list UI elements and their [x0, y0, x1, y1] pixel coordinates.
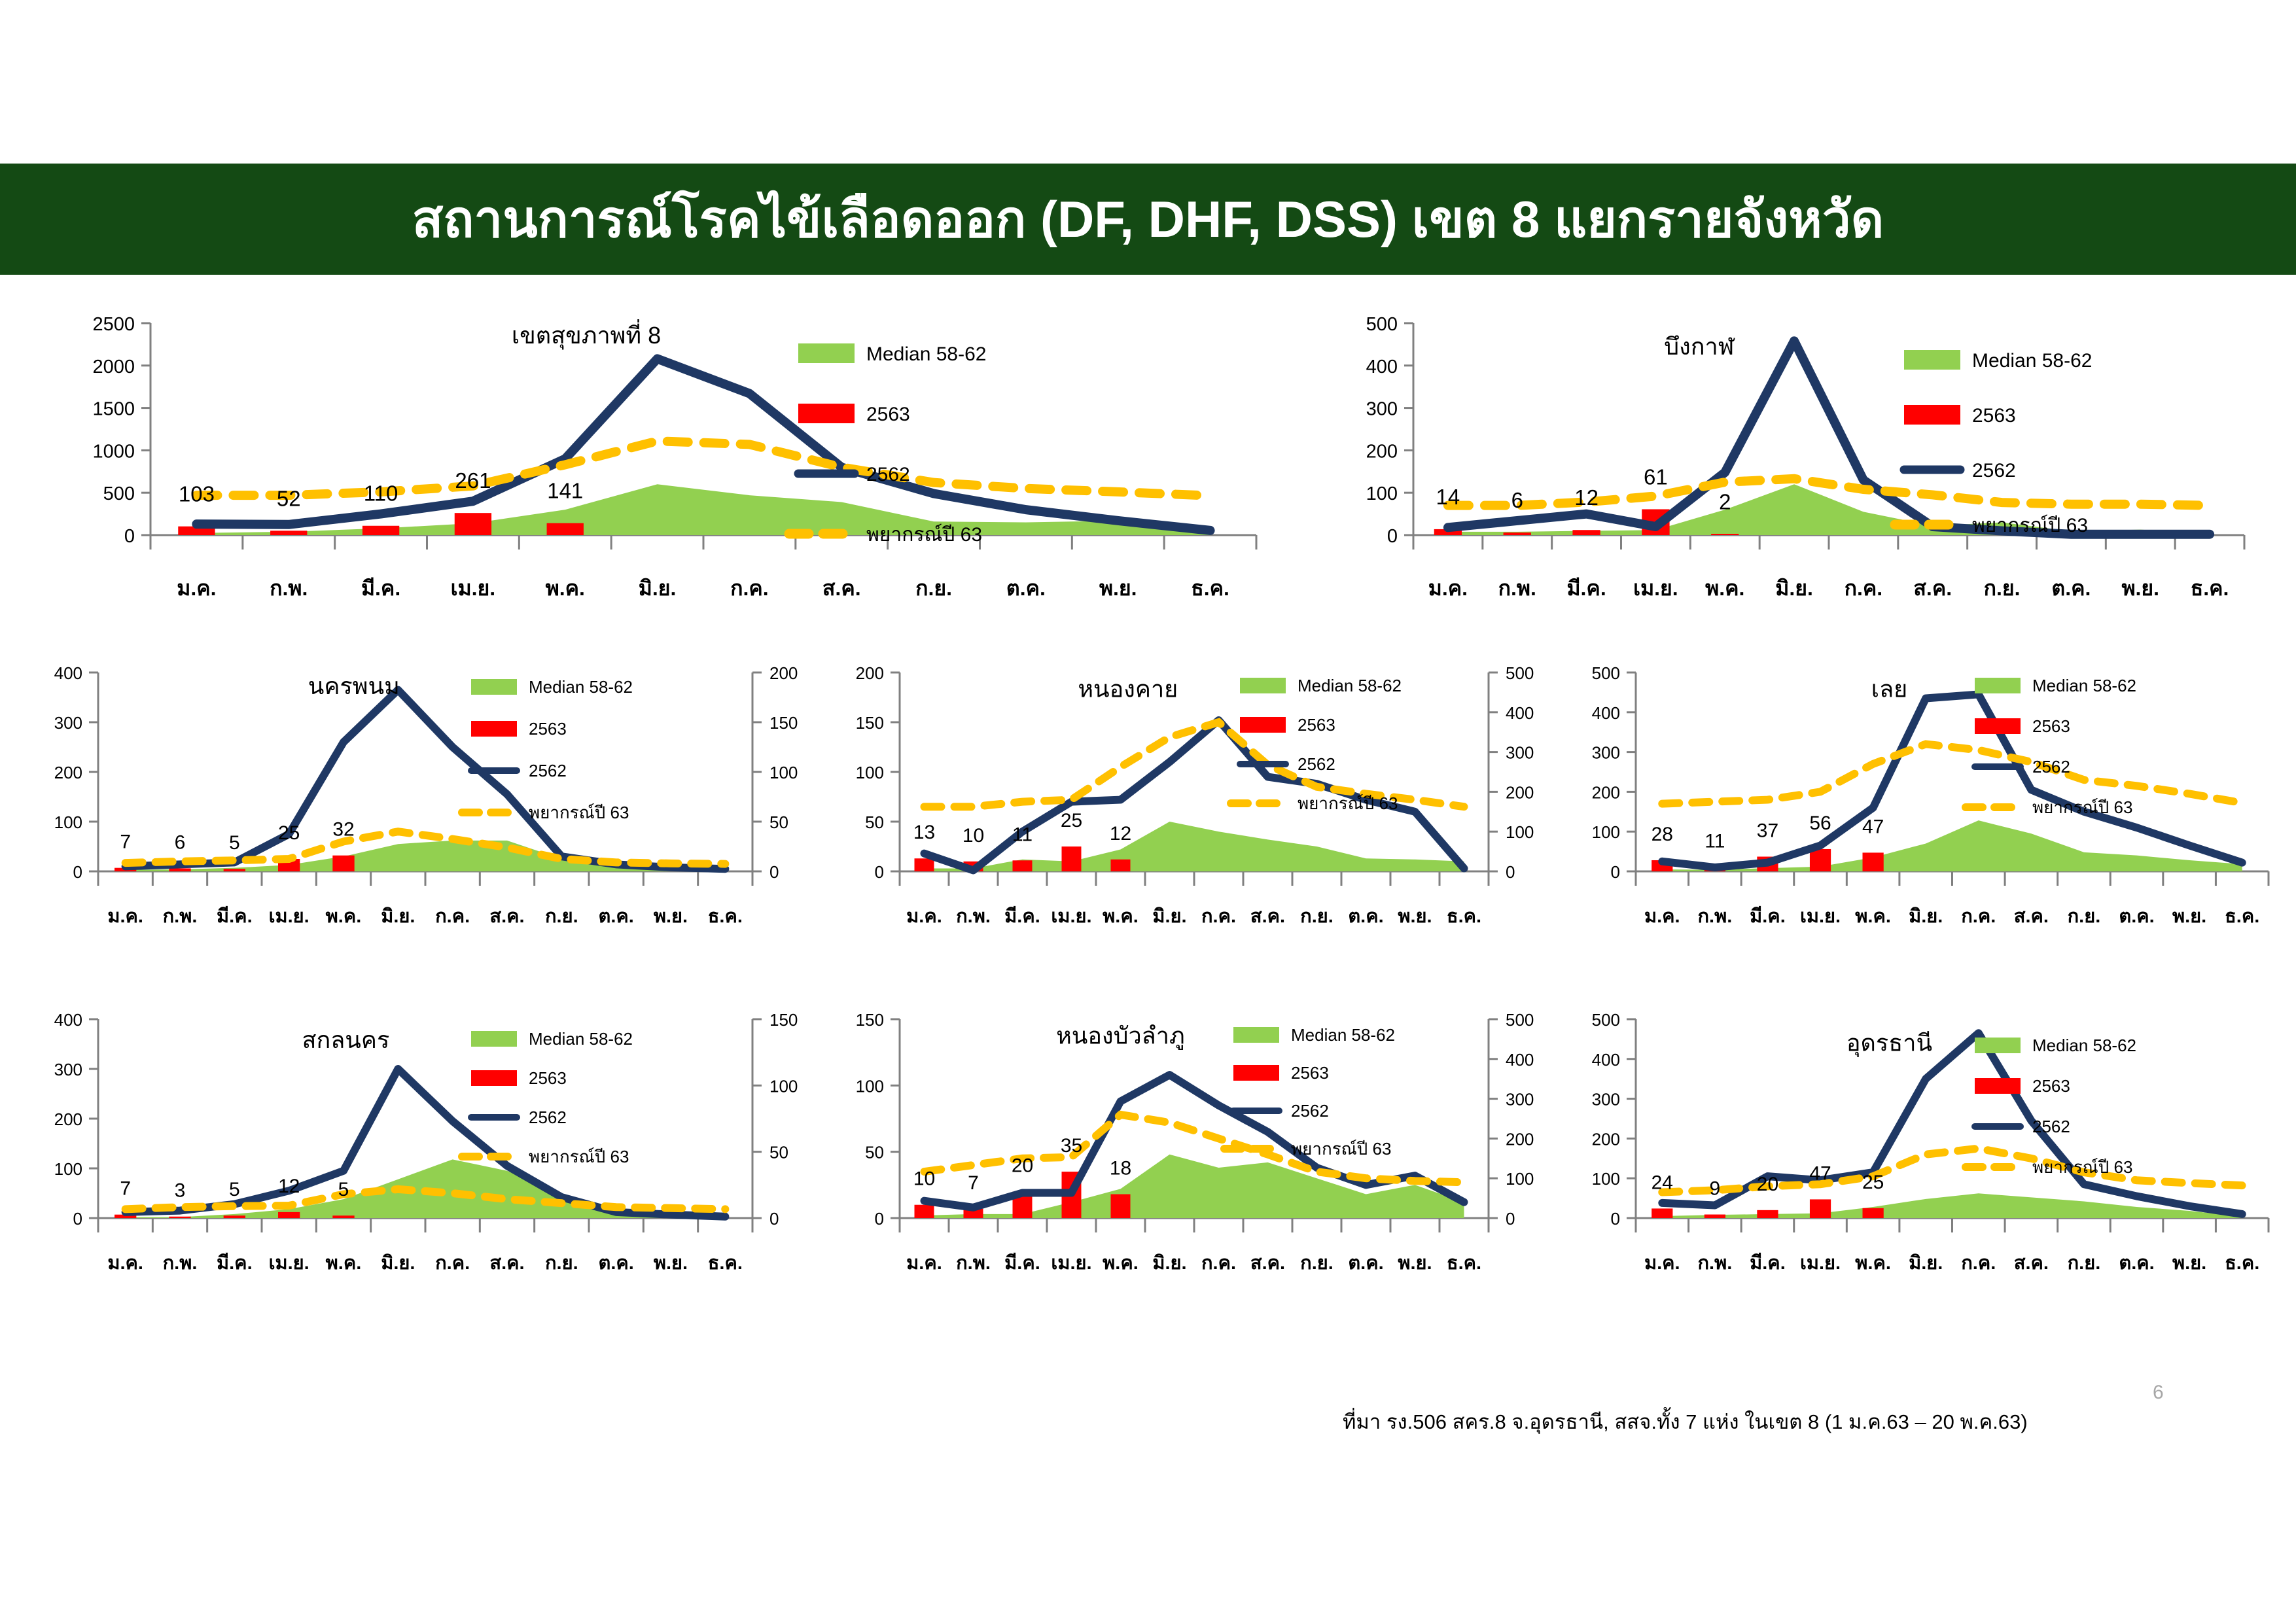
- y-tick-label: 0: [73, 1209, 82, 1229]
- x-tick-label: ส.ค.: [2014, 1253, 2049, 1274]
- x-tick-label: ก.ค.: [435, 1253, 470, 1274]
- bar-2563: [332, 1215, 354, 1218]
- bar-2563: [1651, 1208, 1672, 1218]
- x-tick-label: ม.ค.: [107, 906, 143, 927]
- bar-value-label: 103: [179, 482, 215, 506]
- legend-label-forecast: พยากรณ์ปี 63: [1298, 794, 1398, 813]
- legend-label-median: Median 58-62: [529, 677, 633, 697]
- x-tick-label: ธ.ค.: [1447, 1253, 1481, 1274]
- chart-legend: Median 58-6225632562พยากรณ์ปี 63: [462, 677, 633, 822]
- x-tick-label: ส.ค.: [822, 576, 861, 600]
- y2-tick-label: 0: [769, 862, 779, 882]
- bar-2563: [1504, 532, 1531, 535]
- bar-2563: [1111, 860, 1131, 871]
- x-tick-label: พ.ค.: [1705, 576, 1744, 600]
- x-tick-label: ธ.ค.: [708, 906, 743, 927]
- bar-value-label: 47: [1862, 816, 1884, 837]
- chart-region8: 05001000150020002500ม.ค.ก.พ.มี.ค.เม.ย.พ.…: [39, 301, 1282, 615]
- y-tick-label: 100: [1366, 483, 1398, 504]
- y-tick-label: 300: [1592, 743, 1620, 763]
- chart-buengkan: 0100200300400500ม.ค.ก.พ.มี.ค.เม.ย.พ.ค.มิ…: [1302, 301, 2270, 615]
- y-tick-label: 0: [124, 526, 135, 547]
- x-tick-label: ธ.ค.: [1191, 576, 1229, 600]
- median-area: [925, 1155, 1464, 1218]
- y-tick-label: 100: [1592, 1169, 1620, 1189]
- bar-value-label: 35: [1061, 1135, 1082, 1157]
- bar-2563: [278, 1212, 300, 1218]
- bar-2563: [169, 1217, 190, 1218]
- chart-nongkhai: 0501001502000100200300400500ม.ค.ก.พ.มี.ค…: [815, 654, 1561, 942]
- bar-2563: [270, 531, 307, 535]
- bar-value-label: 24: [1651, 1172, 1673, 1193]
- bar-value-label: 37: [1757, 820, 1778, 842]
- bar-value-label: 20: [1757, 1174, 1778, 1195]
- y2-tick-label: 0: [1506, 1209, 1515, 1229]
- y-tick-label: 150: [856, 713, 884, 733]
- x-tick-label: ส.ค.: [489, 1253, 524, 1274]
- bar-value-label: 6: [175, 831, 186, 853]
- x-tick-label: ก.พ.: [1697, 906, 1732, 927]
- title-banner: สถานการณ์โรคไข้เลือดออก (DF, DHF, DSS) เ…: [0, 164, 2296, 275]
- x-tick-label: มิ.ย.: [1152, 1253, 1186, 1274]
- bar-2563: [915, 858, 934, 871]
- y2-tick-label: 50: [769, 1143, 788, 1162]
- legend-label-2563: 2563: [2032, 716, 2070, 736]
- bar-2563: [1810, 849, 1831, 871]
- bar-2563: [169, 868, 190, 871]
- y2-tick-label: 200: [1506, 782, 1534, 802]
- x-tick-label: มิ.ย.: [1909, 906, 1943, 927]
- bar-2563: [1572, 530, 1600, 535]
- legend-label-2562: 2562: [866, 464, 910, 485]
- bar-value-label: 28: [1651, 824, 1673, 845]
- y-tick-label: 100: [856, 763, 884, 782]
- legend-label-forecast: พยากรณ์ปี 63: [1291, 1139, 1391, 1159]
- y2-tick-label: 0: [1506, 862, 1515, 882]
- x-tick-label: พ.ค.: [1855, 906, 1891, 927]
- y-tick-label: 100: [856, 1076, 884, 1096]
- x-tick-label: เม.ย.: [1051, 906, 1091, 927]
- y-tick-label: 500: [103, 483, 135, 504]
- legend-label-forecast: พยากรณ์ปี 63: [2032, 1157, 2132, 1177]
- y-tick-label: 200: [1592, 1129, 1620, 1149]
- x-tick-label: ส.ค.: [1250, 906, 1285, 927]
- x-tick-label: ส.ค.: [489, 906, 524, 927]
- x-tick-label: พ.ย.: [654, 1253, 688, 1274]
- bar-value-label: 10: [963, 825, 984, 846]
- x-tick-label: มี.ค.: [1566, 576, 1606, 600]
- charts-grid: 05001000150020002500ม.ค.ก.พ.มี.ค.เม.ย.พ.…: [0, 288, 2296, 1400]
- x-tick-label: ม.ค.: [107, 1253, 143, 1274]
- y-tick-label: 300: [1366, 399, 1398, 420]
- legend-label-forecast: พยากรณ์ปี 63: [529, 803, 629, 822]
- bar-value-label: 141: [547, 479, 583, 503]
- chart-title: สกลนคร: [302, 1026, 389, 1053]
- bar-value-label: 12: [1574, 485, 1598, 510]
- x-tick-label: ส.ค.: [1913, 576, 1952, 600]
- chart-title: บึงกาฬ: [1664, 333, 1735, 360]
- x-tick-label: ต.ค.: [598, 906, 633, 927]
- legend-label-2562: 2562: [529, 761, 567, 780]
- legend-label-2562: 2562: [1972, 460, 2016, 481]
- legend-label-median: Median 58-62: [866, 343, 986, 365]
- x-tick-label: มี.ค.: [1004, 1253, 1040, 1274]
- x-tick-label: พ.ย.: [1398, 906, 1432, 927]
- bar-value-label: 52: [277, 486, 301, 510]
- x-tick-label: พ.ค.: [1103, 1253, 1139, 1274]
- chart-nakhonphanom: 0100200300400050100150200ม.ค.ก.พ.มี.ค.เม…: [13, 654, 824, 942]
- bar-2563: [1704, 1215, 1725, 1218]
- y2-tick-label: 100: [769, 1076, 798, 1096]
- x-tick-label: ส.ค.: [1250, 1253, 1285, 1274]
- bar-2563: [1711, 534, 1739, 535]
- y2-tick-label: 150: [769, 713, 798, 733]
- bar-value-label: 5: [229, 1179, 240, 1200]
- x-tick-label: พ.ค.: [1103, 906, 1139, 927]
- bar-value-label: 110: [364, 481, 398, 506]
- bar-value-label: 5: [338, 1179, 349, 1200]
- x-tick-label: ก.ค.: [1961, 1253, 1996, 1274]
- y-tick-label: 0: [1611, 862, 1620, 882]
- legend-label-2562: 2562: [1291, 1101, 1329, 1121]
- bar-value-label: 61: [1644, 464, 1668, 489]
- legend-label-2562: 2562: [2032, 1117, 2070, 1136]
- x-tick-label: มิ.ย.: [639, 576, 677, 600]
- x-tick-label: ก.ย.: [1984, 576, 2021, 600]
- x-tick-label: ต.ค.: [598, 1253, 633, 1274]
- y-tick-label: 0: [1387, 526, 1398, 547]
- line-forecast-63: [1662, 1149, 2242, 1193]
- x-tick-label: เม.ย.: [1800, 1253, 1841, 1274]
- x-tick-label: ส.ค.: [2014, 906, 2049, 927]
- bar-value-label: 25: [278, 822, 300, 844]
- legend-label-forecast: พยากรณ์ปี 63: [866, 523, 982, 546]
- y2-tick-label: 0: [769, 1209, 779, 1229]
- page-number: 6: [2153, 1382, 2164, 1404]
- y-tick-label: 500: [1592, 663, 1620, 683]
- bar-2563: [224, 1215, 245, 1218]
- x-tick-label: ม.ค.: [1644, 1253, 1680, 1274]
- line-forecast-63: [196, 441, 1210, 496]
- legend-label-2563: 2563: [866, 404, 910, 425]
- y-tick-label: 200: [856, 663, 884, 683]
- x-tick-label: ธ.ค.: [2225, 906, 2259, 927]
- x-tick-label: ม.ค.: [1428, 576, 1468, 600]
- x-tick-label: พ.ค.: [326, 906, 362, 927]
- bar-value-label: 12: [278, 1176, 300, 1197]
- x-tick-label: มี.ค.: [217, 906, 253, 927]
- x-tick-label: มี.ค.: [1750, 1253, 1786, 1274]
- x-tick-label: มี.ค.: [1750, 906, 1786, 927]
- bar-2563: [915, 1205, 934, 1218]
- legend-label-2563: 2563: [1298, 715, 1335, 735]
- legend-label-forecast: พยากรณ์ปี 63: [529, 1147, 629, 1166]
- x-tick-label: ก.ค.: [1201, 1253, 1236, 1274]
- legend-label-2562: 2562: [1298, 754, 1335, 774]
- chart-udonthani: 0100200300400500ม.ค.ก.พ.มี.ค.เม.ย.พ.ค.มิ…: [1551, 1001, 2287, 1289]
- line-2562: [126, 690, 726, 869]
- x-tick-label: ก.ย.: [1300, 906, 1333, 927]
- x-tick-label: เม.ย.: [1800, 906, 1841, 927]
- legend-label-2563: 2563: [529, 1068, 567, 1088]
- x-tick-label: ก.ย.: [1300, 1253, 1333, 1274]
- y2-tick-label: 100: [769, 763, 798, 782]
- bar-value-label: 5: [229, 832, 240, 854]
- chart-title: หนองบัวลำภู: [1056, 1022, 1185, 1050]
- x-tick-label: ต.ค.: [2119, 1253, 2154, 1274]
- x-tick-label: ก.ค.: [435, 906, 470, 927]
- x-tick-label: ก.พ.: [270, 576, 308, 600]
- x-tick-label: ก.พ.: [956, 906, 991, 927]
- bar-value-label: 9: [1710, 1178, 1721, 1200]
- bar-value-label: 11: [1012, 824, 1033, 845]
- y2-tick-label: 150: [769, 1010, 798, 1030]
- bar-value-label: 20: [1012, 1155, 1033, 1176]
- chart-title: หนองคาย: [1078, 675, 1178, 702]
- x-tick-label: เม.ย.: [269, 1253, 309, 1274]
- bar-value-label: 14: [1436, 485, 1460, 509]
- x-tick-label: ก.พ.: [1697, 1253, 1732, 1274]
- y-tick-label: 500: [1366, 314, 1398, 335]
- legend-label-median: Median 58-62: [2032, 676, 2136, 695]
- x-tick-label: พ.ย.: [2121, 576, 2159, 600]
- x-tick-label: พ.ย.: [2172, 1253, 2206, 1274]
- x-tick-label: มิ.ย.: [381, 906, 415, 927]
- y-tick-label: 300: [54, 713, 82, 733]
- y-tick-label: 400: [1592, 1050, 1620, 1070]
- chart-sakonnakhon: 0100200300400050100150ม.ค.ก.พ.มี.ค.เม.ย.…: [13, 1001, 824, 1289]
- y-tick-label: 200: [1366, 441, 1398, 462]
- bar-value-label: 2: [1719, 490, 1731, 514]
- bar-2563: [547, 523, 584, 535]
- x-tick-label: ธ.ค.: [2191, 576, 2229, 600]
- x-tick-label: ก.พ.: [1498, 576, 1536, 600]
- y-tick-label: 100: [1592, 822, 1620, 842]
- bar-value-label: 56: [1809, 812, 1831, 834]
- line-forecast-63: [1662, 744, 2242, 803]
- bar-value-label: 32: [332, 819, 354, 841]
- x-tick-label: ธ.ค.: [1447, 906, 1481, 927]
- x-tick-label: ต.ค.: [1348, 906, 1383, 927]
- x-tick-label: ก.พ.: [163, 906, 198, 927]
- y-tick-label: 0: [73, 862, 82, 882]
- legend-label-forecast: พยากรณ์ปี 63: [1972, 514, 2088, 536]
- y-tick-label: 0: [875, 1209, 884, 1229]
- legend-label-2563: 2563: [2032, 1076, 2070, 1096]
- x-tick-label: พ.ค.: [1855, 1253, 1891, 1274]
- bar-value-label: 261: [455, 468, 491, 493]
- bar-value-label: 3: [175, 1180, 186, 1202]
- x-tick-label: มี.ค.: [361, 576, 400, 600]
- y2-tick-label: 300: [1506, 743, 1534, 763]
- x-tick-label: ก.พ.: [163, 1253, 198, 1274]
- bar-value-label: 10: [913, 1168, 935, 1190]
- y-tick-label: 200: [54, 1109, 82, 1129]
- legend-label-median: Median 58-62: [1298, 676, 1402, 695]
- x-tick-label: มี.ค.: [1004, 906, 1040, 927]
- bar-value-label: 25: [1061, 810, 1082, 831]
- y-tick-label: 300: [54, 1060, 82, 1079]
- legend-label-2562: 2562: [2032, 757, 2070, 777]
- x-tick-label: ก.ย.: [2068, 906, 2101, 927]
- median-area: [1448, 484, 2210, 535]
- legend-label-forecast: พยากรณ์ปี 63: [2032, 797, 2132, 817]
- x-tick-label: มิ.ย.: [381, 1253, 415, 1274]
- x-tick-label: ก.ค.: [730, 576, 769, 600]
- y-tick-label: 400: [54, 1010, 82, 1030]
- x-tick-label: ม.ค.: [1644, 906, 1680, 927]
- y2-tick-label: 50: [769, 812, 788, 832]
- legend-label-median: Median 58-62: [1291, 1025, 1395, 1045]
- x-tick-label: พ.ย.: [654, 906, 688, 927]
- x-tick-label: พ.ย.: [1099, 576, 1137, 600]
- y-tick-label: 0: [1611, 1209, 1620, 1229]
- bar-2563: [362, 526, 399, 535]
- chart-legend: Median 58-6225632562พยากรณ์ปี 63: [1895, 350, 2092, 536]
- x-tick-label: ม.ค.: [906, 1253, 942, 1274]
- bar-2563: [1863, 852, 1884, 871]
- bar-2563: [332, 856, 354, 871]
- y-tick-label: 50: [865, 1143, 884, 1162]
- x-tick-label: พ.ค.: [546, 576, 585, 600]
- y-tick-label: 300: [1592, 1090, 1620, 1109]
- bar-2563: [1013, 860, 1033, 871]
- x-tick-label: ก.พ.: [956, 1253, 991, 1274]
- y2-tick-label: 400: [1506, 703, 1534, 723]
- bar-2563: [1111, 1195, 1131, 1218]
- y-tick-label: 50: [865, 812, 884, 832]
- x-tick-label: ต.ค.: [1006, 576, 1046, 600]
- y2-tick-label: 100: [1506, 1169, 1534, 1189]
- bar-value-label: 12: [1110, 823, 1131, 845]
- x-tick-label: มิ.ย.: [1152, 906, 1186, 927]
- x-tick-label: ต.ค.: [2051, 576, 2091, 600]
- x-tick-label: ก.ย.: [915, 576, 952, 600]
- x-tick-label: ต.ค.: [2119, 906, 2154, 927]
- bar-2563: [1810, 1199, 1831, 1218]
- y2-tick-label: 100: [1506, 822, 1534, 842]
- y2-tick-label: 400: [1506, 1050, 1534, 1070]
- bar-value-label: 13: [913, 822, 935, 843]
- chart-title: อุดรธานี: [1846, 1029, 1932, 1057]
- x-tick-label: ธ.ค.: [708, 1253, 743, 1274]
- legend-label-2562: 2562: [529, 1108, 567, 1127]
- x-tick-label: ก.ค.: [1201, 906, 1236, 927]
- x-tick-label: มิ.ย.: [1775, 576, 1813, 600]
- x-tick-label: เม.ย.: [451, 576, 496, 600]
- y-tick-label: 100: [54, 1159, 82, 1179]
- x-tick-label: พ.ค.: [326, 1253, 362, 1274]
- x-tick-label: ม.ค.: [177, 576, 216, 600]
- y-tick-label: 2000: [92, 357, 135, 377]
- bar-2563: [1757, 1210, 1778, 1218]
- x-tick-label: ธ.ค.: [2225, 1253, 2259, 1274]
- y-tick-label: 150: [856, 1010, 884, 1030]
- y2-tick-label: 500: [1506, 663, 1534, 683]
- y-tick-label: 200: [54, 763, 82, 782]
- x-tick-label: ม.ค.: [906, 906, 942, 927]
- y-tick-label: 1500: [92, 399, 135, 420]
- y2-tick-label: 200: [1506, 1129, 1534, 1149]
- legend-label-2563: 2563: [1972, 405, 2016, 427]
- x-tick-label: ก.ค.: [1961, 906, 1996, 927]
- x-tick-label: พ.ย.: [1398, 1253, 1432, 1274]
- legend-label-2563: 2563: [1291, 1063, 1329, 1083]
- bar-value-label: 6: [1511, 488, 1523, 512]
- bar-value-label: 7: [120, 831, 131, 853]
- y2-tick-label: 300: [1506, 1090, 1534, 1109]
- x-tick-label: มี.ค.: [217, 1253, 253, 1274]
- y-tick-label: 2500: [92, 314, 135, 335]
- x-tick-label: ก.ย.: [2068, 1253, 2101, 1274]
- bar-2563: [455, 513, 491, 535]
- legend-label-median: Median 58-62: [529, 1029, 633, 1049]
- bar-value-label: 25: [1862, 1172, 1884, 1193]
- x-tick-label: เม.ย.: [1051, 1253, 1091, 1274]
- y2-tick-label: 500: [1506, 1010, 1534, 1030]
- chart-legend: Median 58-6225632562พยากรณ์ปี 63: [1224, 1025, 1395, 1159]
- x-tick-label: เม.ย.: [1633, 576, 1678, 600]
- chart-title: นครพนม: [308, 672, 400, 699]
- legend-label-median: Median 58-62: [1972, 350, 2092, 372]
- chart-title: เขตสุขภาพที่ 8: [512, 319, 661, 350]
- bar-value-label: 7: [120, 1178, 131, 1200]
- source-footnote: ที่มา รง.506 สคร.8 จ.อุดรธานี, สสจ.ทั้ง …: [1343, 1405, 2028, 1438]
- chart-nongbualamphu: 0501001500100200300400500ม.ค.ก.พ.มี.ค.เม…: [815, 1001, 1561, 1289]
- bar-2563: [1863, 1208, 1884, 1218]
- y-tick-label: 400: [54, 663, 82, 683]
- bar-value-label: 7: [968, 1172, 979, 1194]
- legend-label-median: Median 58-62: [2032, 1036, 2136, 1055]
- x-tick-label: ก.ย.: [545, 906, 578, 927]
- bar-value-label: 18: [1110, 1158, 1131, 1179]
- x-tick-label: เม.ย.: [269, 906, 309, 927]
- y-tick-label: 0: [875, 862, 884, 882]
- y-tick-label: 100: [54, 812, 82, 832]
- bar-2563: [224, 869, 245, 871]
- y-tick-label: 400: [1592, 703, 1620, 723]
- page-title: สถานการณ์โรคไข้เลือดออก (DF, DHF, DSS) เ…: [412, 179, 1884, 260]
- y-tick-label: 1000: [92, 441, 135, 462]
- x-tick-label: มิ.ย.: [1909, 1253, 1943, 1274]
- y-tick-label: 200: [1592, 782, 1620, 802]
- x-tick-label: ต.ค.: [1348, 1253, 1383, 1274]
- y2-tick-label: 200: [769, 663, 798, 683]
- y-tick-label: 500: [1592, 1010, 1620, 1030]
- bar-2563: [1062, 846, 1082, 871]
- x-tick-label: ก.ค.: [1845, 576, 1883, 600]
- y-tick-label: 400: [1366, 357, 1398, 377]
- legend-label-2563: 2563: [529, 719, 567, 739]
- x-tick-label: ก.ย.: [545, 1253, 578, 1274]
- x-tick-label: พ.ย.: [2172, 906, 2206, 927]
- bar-value-label: 11: [1704, 830, 1725, 852]
- chart-loei: 0100200300400500ม.ค.ก.พ.มี.ค.เม.ย.พ.ค.มิ…: [1551, 654, 2287, 942]
- chart-title: เลย: [1871, 675, 1907, 702]
- bar-value-label: 47: [1809, 1162, 1831, 1184]
